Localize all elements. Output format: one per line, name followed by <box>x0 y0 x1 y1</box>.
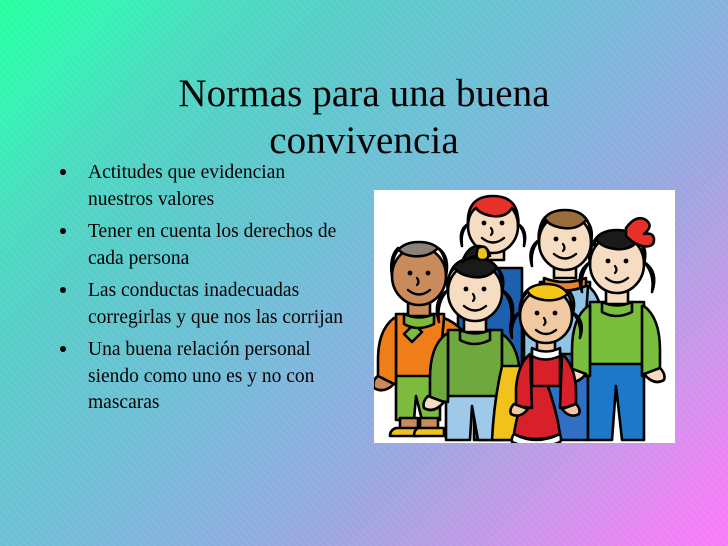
round-bullet-icon <box>60 228 66 234</box>
round-bullet-icon <box>60 346 66 352</box>
slide-content: Normas para una buena convivencia Actitu… <box>0 0 728 546</box>
bullet-text: Actitudes que evidencian nuestros valore… <box>88 162 285 210</box>
slide-title-line-2: convivencia <box>58 117 670 164</box>
bullet-text: Tener en cuenta los derechos de cada per… <box>88 221 336 269</box>
slide-title-line-1: Normas para una buena <box>58 70 670 117</box>
slide-title: Normas para una buena convivencia <box>58 70 670 164</box>
children-illustration-svg <box>374 190 675 443</box>
group-of-children-clipart <box>374 190 675 443</box>
presentation-slide: Normas para una buena convivencia Actitu… <box>0 0 728 546</box>
slide-bullet-list: Actitudes que evidencian nuestros valore… <box>52 160 352 423</box>
list-item: Las conductas inadecuadas corregirlas y … <box>52 278 352 331</box>
list-item: Actitudes que evidencian nuestros valore… <box>52 160 352 213</box>
bullet-text: Una buena relación personal siendo como … <box>88 339 314 413</box>
list-item: Tener en cuenta los derechos de cada per… <box>52 219 352 272</box>
bullet-text: Las conductas inadecuadas corregirlas y … <box>88 280 343 328</box>
round-bullet-icon <box>60 169 66 175</box>
round-bullet-icon <box>60 287 66 293</box>
list-item: Una buena relación personal siendo como … <box>52 337 352 417</box>
